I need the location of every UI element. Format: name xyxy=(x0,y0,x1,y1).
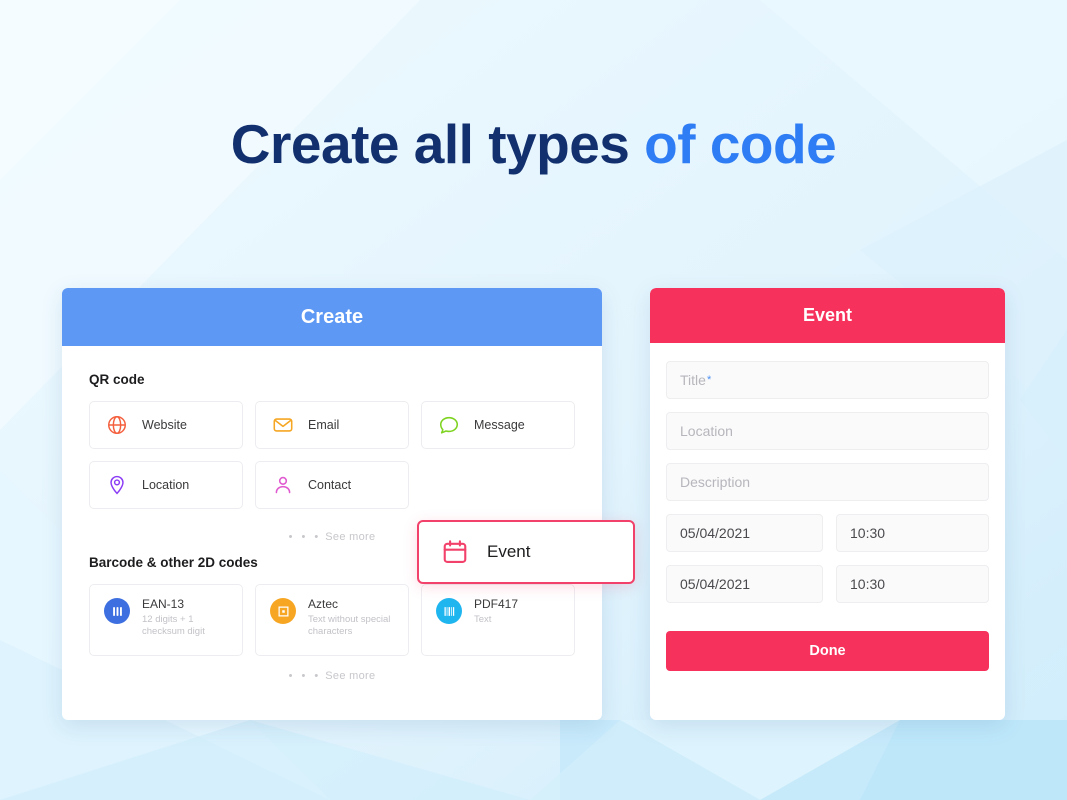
tile-event-label: Event xyxy=(487,542,530,562)
create-card-body: QR code Website xyxy=(62,346,602,686)
tile-pdf417-texts: PDF417 Text xyxy=(474,597,518,626)
tile-ean13-subtitle: 12 digits + 1 checksum digit xyxy=(142,614,234,638)
see-more-dots-barcode: • • • xyxy=(289,670,322,682)
see-more-barcode[interactable]: • • •See more xyxy=(89,656,575,686)
pdf417-code-icon xyxy=(436,598,462,624)
start-datetime-row: 05/04/2021 10:30 xyxy=(666,514,989,565)
tile-location-label: Location xyxy=(142,478,189,492)
start-time-value: 10:30 xyxy=(850,525,885,541)
tile-aztec[interactable]: Aztec Text without special characters xyxy=(255,584,409,656)
start-date-value: 05/04/2021 xyxy=(680,525,750,541)
tile-aztec-texts: Aztec Text without special characters xyxy=(308,597,400,638)
envelope-icon xyxy=(272,414,294,436)
calendar-icon xyxy=(441,538,469,566)
chat-icon xyxy=(438,414,460,436)
aztec-code-icon xyxy=(270,598,296,624)
end-date-field[interactable]: 05/04/2021 xyxy=(666,565,823,603)
create-card-header: Create xyxy=(62,288,602,346)
page-title: Create all types of code xyxy=(0,112,1067,176)
tile-ean13-title: EAN-13 xyxy=(142,597,234,611)
event-card-body: Title* Location Description 05/04/2021 1… xyxy=(650,343,1005,671)
tile-placeholder-slot xyxy=(421,461,575,509)
qr-tile-row-1: Website Email Message xyxy=(89,401,575,449)
see-more-label-barcode: See more xyxy=(325,670,375,682)
tile-aztec-title: Aztec xyxy=(308,597,400,611)
barcode-tile-row: EAN-13 12 digits + 1 checksum digit Azte… xyxy=(89,584,575,656)
tile-website-label: Website xyxy=(142,418,187,432)
end-datetime-row: 05/04/2021 10:30 xyxy=(666,565,989,616)
see-more-label-qr: See more xyxy=(325,531,375,543)
required-marker-icon: * xyxy=(707,374,711,386)
title-field[interactable]: Title* xyxy=(666,361,989,399)
tile-contact-label: Contact xyxy=(308,478,351,492)
page-title-accent: of code xyxy=(629,113,836,175)
globe-icon xyxy=(106,414,128,436)
event-card-header: Event xyxy=(650,288,1005,343)
start-time-field[interactable]: 10:30 xyxy=(836,514,989,552)
tile-location[interactable]: Location xyxy=(89,461,243,509)
location-field-placeholder: Location xyxy=(680,423,733,439)
tile-aztec-subtitle: Text without special characters xyxy=(308,614,400,638)
tile-contact[interactable]: Contact xyxy=(255,461,409,509)
tile-event-selected[interactable]: Event xyxy=(417,520,635,584)
done-button[interactable]: Done xyxy=(666,631,989,671)
qr-tile-row-2: Location Contact xyxy=(89,461,575,509)
person-icon xyxy=(272,474,294,496)
tile-pdf417[interactable]: PDF417 Text xyxy=(421,584,575,656)
tile-message[interactable]: Message xyxy=(421,401,575,449)
barcode-bars-icon xyxy=(104,598,130,624)
location-field[interactable]: Location xyxy=(666,412,989,450)
description-field-placeholder: Description xyxy=(680,474,750,490)
end-time-value: 10:30 xyxy=(850,576,885,592)
description-field[interactable]: Description xyxy=(666,463,989,501)
end-date-value: 05/04/2021 xyxy=(680,576,750,592)
see-more-dots-qr: • • • xyxy=(289,531,322,543)
tile-pdf417-title: PDF417 xyxy=(474,597,518,611)
section-label-qr-code: QR code xyxy=(89,372,575,387)
event-form-card: Event Title* Location Description 05/04/… xyxy=(650,288,1005,720)
tile-email-label: Email xyxy=(308,418,339,432)
tile-ean13-texts: EAN-13 12 digits + 1 checksum digit xyxy=(142,597,234,638)
pin-icon xyxy=(106,474,128,496)
event-card-title: Event xyxy=(803,305,852,326)
title-field-placeholder: Title xyxy=(680,372,706,388)
page-title-primary: Create all types xyxy=(231,113,630,175)
tile-message-label: Message xyxy=(474,418,525,432)
create-card-title: Create xyxy=(301,306,363,329)
tile-website[interactable]: Website xyxy=(89,401,243,449)
start-date-field[interactable]: 05/04/2021 xyxy=(666,514,823,552)
tile-email[interactable]: Email xyxy=(255,401,409,449)
end-time-field[interactable]: 10:30 xyxy=(836,565,989,603)
tile-ean13[interactable]: EAN-13 12 digits + 1 checksum digit xyxy=(89,584,243,656)
tile-pdf417-subtitle: Text xyxy=(474,614,518,626)
create-card: Create QR code Website xyxy=(62,288,602,720)
